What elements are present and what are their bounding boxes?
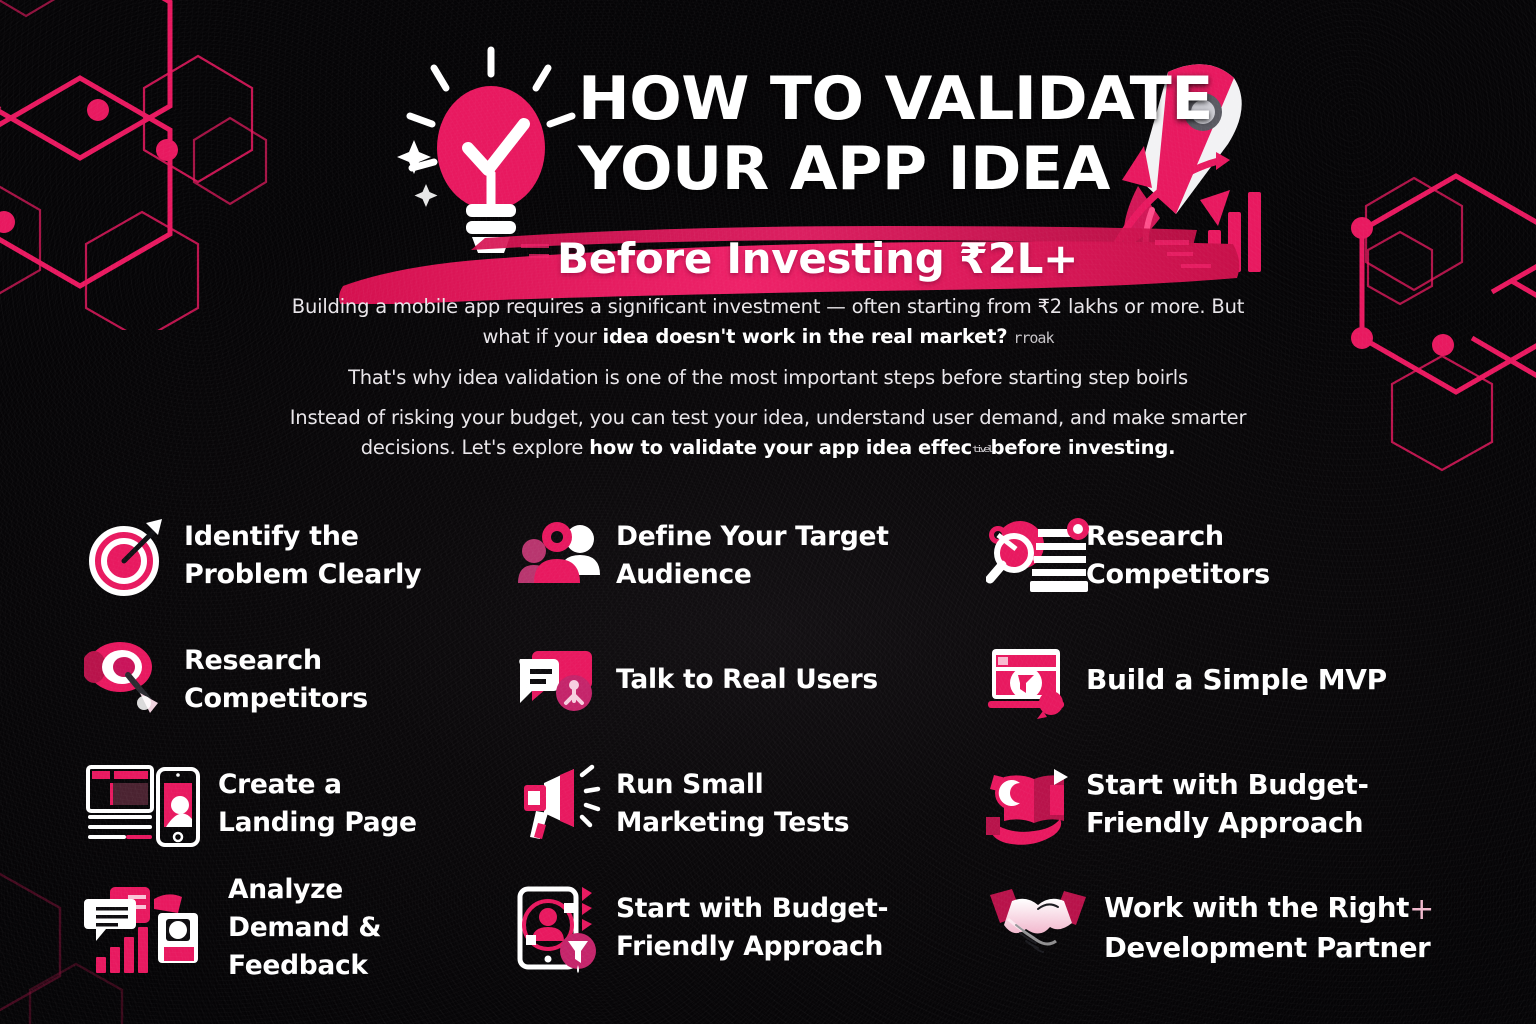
intro-p3-artifact: tivel	[972, 439, 991, 460]
step-label: Start with Budget- Friendly Approach	[1086, 766, 1369, 842]
step-item-dev-partner[interactable]: Work with the Right+ Development Partner	[986, 866, 1464, 990]
step-label-line2: Demand & Feedback	[228, 909, 516, 985]
step-label-line1: Build a Simple MVP	[1086, 663, 1387, 696]
target-dart-icon	[84, 513, 170, 599]
step-label-line2: Problem Clearly	[184, 556, 421, 594]
intro-p3-tail: before investing.	[991, 436, 1176, 459]
header: HOW TO VALIDATE YOUR APP IDEA	[0, 22, 1536, 284]
step-label: Identify the Problem Clearly	[184, 518, 421, 594]
title-line-2: YOUR APP IDEA	[578, 134, 1114, 204]
title-line-1: HOW TO VALIDATE	[578, 64, 1114, 134]
step-label-line2: Landing Page	[218, 804, 417, 842]
megaphone-icon	[516, 761, 602, 847]
plus-artifact-icon: +	[1409, 892, 1434, 927]
step-label: Start with Budget- Friendly Approach	[616, 890, 888, 966]
step-item-analyze-demand[interactable]: Analyze Demand & Feedback	[84, 866, 516, 990]
step-item-landing-page[interactable]: Create a Landing Page	[84, 742, 516, 866]
step-item-identify-problem[interactable]: Identify the Problem Clearly	[84, 494, 516, 618]
infographic-canvas: HOW TO VALIDATE YOUR APP IDEA	[0, 0, 1536, 1024]
webpage-mobile-icon	[84, 761, 204, 847]
step-label: Research Competitors	[184, 642, 368, 718]
step-item-marketing-tests[interactable]: Run Small Marketing Tests	[516, 742, 986, 866]
audience-group-icon	[516, 513, 602, 599]
intro-p1-bold: idea doesn't work in the real market?	[603, 325, 1008, 348]
step-label-line1: Work with the Right	[1104, 892, 1409, 924]
step-label-line1: Analyze	[228, 874, 343, 905]
step-item-talk-users[interactable]: Talk to Real Users	[516, 618, 986, 742]
step-label-line1: Start with Budget-	[1086, 769, 1369, 801]
step-label-line2: Audience	[616, 556, 889, 594]
step-label-line1: Talk to Real Users	[616, 664, 878, 695]
steps-grid: Identify the Problem Clearly Define Your…	[84, 494, 1464, 990]
intro-paragraph-3: Instead of risking your budget, you can …	[268, 403, 1268, 464]
step-label-line2: Competitors	[184, 680, 368, 718]
step-label-line1: Research	[184, 645, 322, 676]
step-label-line2: Friendly Approach	[616, 928, 888, 966]
tablet-user-funnel-icon	[516, 885, 602, 971]
chat-chart-camera-icon	[84, 885, 214, 971]
step-label-line2: Competitors	[1086, 556, 1270, 594]
chat-bubbles-user-icon	[516, 637, 602, 723]
step-label: Analyze Demand & Feedback	[228, 871, 516, 985]
step-label: Create a Landing Page	[218, 766, 417, 842]
step-label-line2: Development Partner	[1104, 929, 1434, 967]
step-label-line1: Research	[1086, 521, 1224, 552]
step-label-line2: Marketing Tests	[616, 804, 849, 842]
step-label: Research Competitors	[1086, 518, 1270, 594]
intro-paragraph-1: Building a mobile app requires a signifi…	[268, 292, 1268, 353]
step-label: Define Your Target Audience	[616, 518, 889, 594]
intro-p3-bold-a: how to	[589, 436, 669, 459]
step-item-research-competitors-b[interactable]: Research Competitors	[84, 618, 516, 742]
page-title: HOW TO VALIDATE YOUR APP IDEA	[578, 64, 1098, 204]
intro-p3-eff: effec	[918, 436, 972, 459]
step-label-line1: Define Your Target	[616, 521, 889, 552]
step-label-line1: Identify the	[184, 521, 359, 552]
hand-book-budget-icon	[986, 761, 1072, 847]
step-item-budget-friendly-b[interactable]: Start with Budget- Friendly Approach	[516, 866, 986, 990]
step-label-line1: Start with Budget-	[616, 893, 888, 924]
step-label-line1: Run Small	[616, 769, 763, 800]
handshake-icon	[986, 885, 1090, 971]
browser-mvp-icon	[986, 637, 1072, 723]
step-label-line1: Create a	[218, 769, 342, 800]
step-label: Work with the Right+ Development Partner	[1104, 889, 1434, 967]
magnifier-target-icon	[84, 637, 170, 723]
step-label: Build a Simple MVP	[1086, 661, 1387, 699]
step-label: Run Small Marketing Tests	[616, 766, 849, 842]
step-item-build-mvp[interactable]: Build a Simple MVP	[986, 618, 1464, 742]
step-item-define-audience[interactable]: Define Your Target Audience	[516, 494, 986, 618]
step-label: Talk to Real Users	[616, 661, 878, 699]
intro-paragraph-2: That's why idea validation is one of the…	[268, 363, 1268, 393]
intro-p1-artifact: rrοak	[1013, 329, 1053, 347]
intro-p3-bold-b: validate your app idea	[669, 436, 912, 459]
step-item-budget-friendly-a[interactable]: Start with Budget- Friendly Approach	[986, 742, 1464, 866]
subtitle-text: Before Investing ₹2L+	[557, 234, 1078, 284]
intro-paragraphs: Building a mobile app requires a signifi…	[268, 292, 1268, 464]
step-label-line2: Friendly Approach	[1086, 804, 1369, 842]
step-item-research-competitors-a[interactable]: Research Competitors	[986, 494, 1464, 618]
magnifier-documents-icon	[986, 513, 1072, 599]
